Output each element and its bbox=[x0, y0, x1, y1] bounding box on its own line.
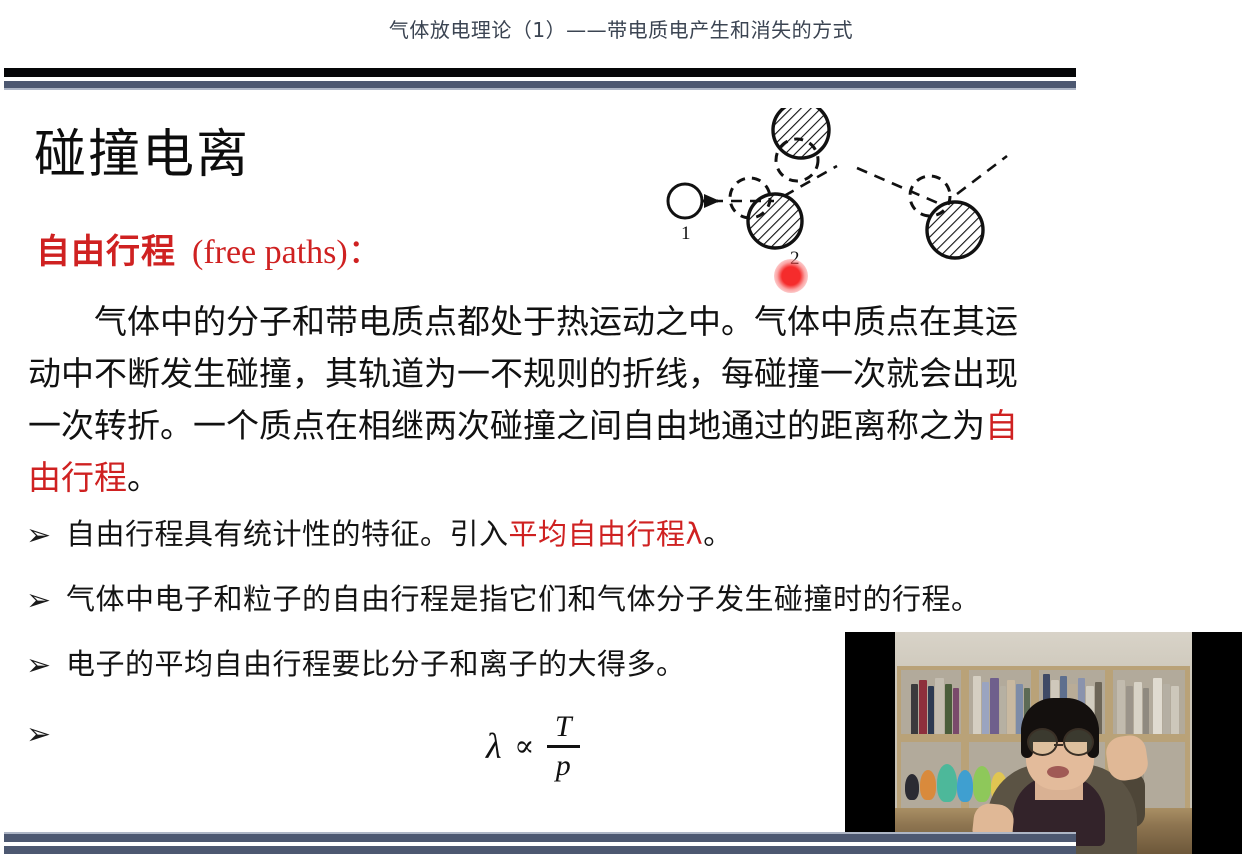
collision-path-diagram: 1 2 bbox=[662, 108, 1032, 293]
bullet-1-tail: 。 bbox=[703, 517, 733, 551]
list-item-text: 自由行程具有统计性的特征。引入平均自由行程λ。 bbox=[66, 512, 1086, 557]
section-heading: 碰撞电离 bbox=[34, 112, 250, 187]
subsection-heading: 自由行程(free paths)： bbox=[36, 224, 382, 273]
bottom-divider-group bbox=[4, 832, 1076, 854]
arrow-bullet-icon: ➢ bbox=[26, 577, 66, 621]
top-divider-group bbox=[4, 68, 1076, 90]
presenter-glasses-left-lens bbox=[1027, 728, 1058, 756]
body-paragraph: 气体中的分子和带电质点都处于热运动之中。气体中质点在其运动中不断发生碰撞，其轨道… bbox=[28, 296, 1038, 504]
particle-1-circle bbox=[668, 184, 702, 218]
divider-slate-bar bbox=[4, 81, 1076, 88]
webcam-overlay[interactable] bbox=[845, 632, 1242, 854]
arrow-bullet-icon: ➢ bbox=[26, 642, 66, 686]
formula-denominator: p bbox=[548, 748, 580, 782]
molecule-hatched-1 bbox=[748, 194, 802, 248]
molecule-hatched-2 bbox=[773, 108, 829, 158]
arrow-bullet-icon: ➢ bbox=[26, 512, 66, 556]
molecule-hatched-3 bbox=[927, 202, 983, 258]
formula-lambda-symbol: λ bbox=[486, 724, 502, 769]
laser-pointer-dot bbox=[774, 259, 808, 293]
arrow-bullet-icon: ➢ bbox=[26, 711, 66, 755]
subsection-heading-latin: (free paths)： bbox=[192, 234, 382, 271]
presenter-glasses-bridge bbox=[1054, 744, 1063, 746]
bullet-1-plain: 自由行程具有统计性的特征。引入 bbox=[66, 517, 509, 551]
divider-slate-bar-2 bbox=[4, 846, 1076, 854]
presenter-mouth bbox=[1047, 766, 1069, 778]
divider-light-line bbox=[4, 88, 1076, 90]
formula-numerator: T bbox=[547, 711, 580, 745]
formula-fraction: T p bbox=[547, 711, 580, 781]
paragraph-text-part1: 气体中的分子和带电质点都处于热运动之中。气体中质点在其运动中不断发生碰撞，其轨道… bbox=[28, 302, 1018, 445]
list-item-text: 气体中电子和粒子的自由行程是指它们和气体分子发生碰撞时的行程。 bbox=[66, 577, 1086, 622]
collision-diagram-svg: 1 2 bbox=[662, 108, 1032, 293]
webcam-video-feed bbox=[895, 632, 1192, 854]
divider-black-bar bbox=[4, 68, 1076, 77]
divider-slate-bar bbox=[4, 834, 1076, 842]
list-item: ➢ 气体中电子和粒子的自由行程是指它们和气体分子发生碰撞时的行程。 bbox=[26, 577, 1086, 622]
bullet-1-highlight: 平均自由行程λ bbox=[509, 517, 704, 551]
paragraph-text-part2: 。 bbox=[127, 458, 160, 497]
subsection-heading-cjk: 自由行程 bbox=[36, 232, 176, 272]
presenter-glasses-right-lens bbox=[1063, 728, 1094, 756]
list-item: ➢ 自由行程具有统计性的特征。引入平均自由行程λ。 bbox=[26, 512, 1086, 557]
diagram-label-1: 1 bbox=[681, 223, 691, 244]
formula-proportional-symbol: ∝ bbox=[514, 724, 535, 769]
page-title: 气体放电理论（1）——带电质电产生和消失的方式 bbox=[0, 14, 1242, 43]
